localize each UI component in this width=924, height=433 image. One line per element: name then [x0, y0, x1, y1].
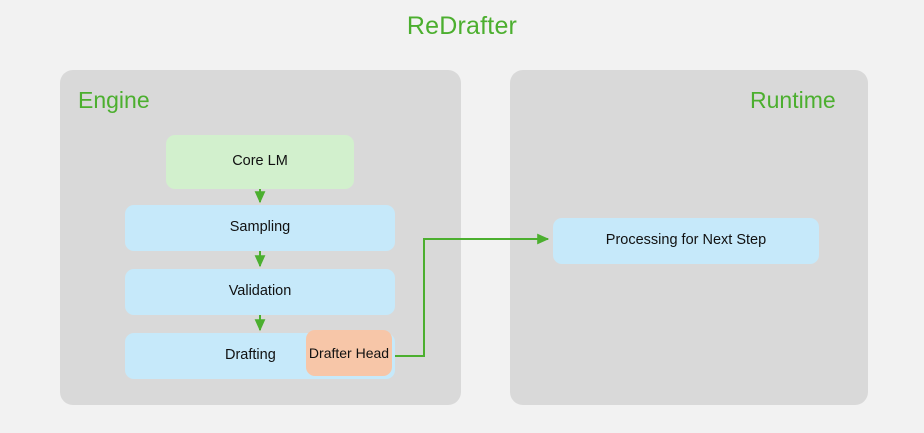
node-processing[interactable]: Processing for Next Step — [553, 218, 819, 264]
runtime-panel-label: Runtime — [750, 87, 836, 114]
node-drafter-head[interactable]: Drafter Head — [306, 330, 392, 376]
node-validation-label: Validation — [229, 283, 292, 300]
node-processing-label: Processing for Next Step — [606, 232, 766, 249]
node-core-lm[interactable]: Core LM — [166, 135, 354, 189]
node-core-lm-label: Core LM — [232, 153, 288, 170]
engine-panel-label: Engine — [78, 87, 150, 114]
node-sampling-label: Sampling — [230, 219, 290, 236]
node-drafter-head-label: Drafter Head — [309, 345, 389, 362]
node-validation[interactable]: Validation — [125, 269, 395, 315]
diagram-canvas: ReDrafter Engine Runtime Core LM Samplin… — [0, 0, 924, 433]
page-title: ReDrafter — [0, 12, 924, 41]
node-sampling[interactable]: Sampling — [125, 205, 395, 251]
node-drafting-label: Drafting — [225, 347, 276, 364]
